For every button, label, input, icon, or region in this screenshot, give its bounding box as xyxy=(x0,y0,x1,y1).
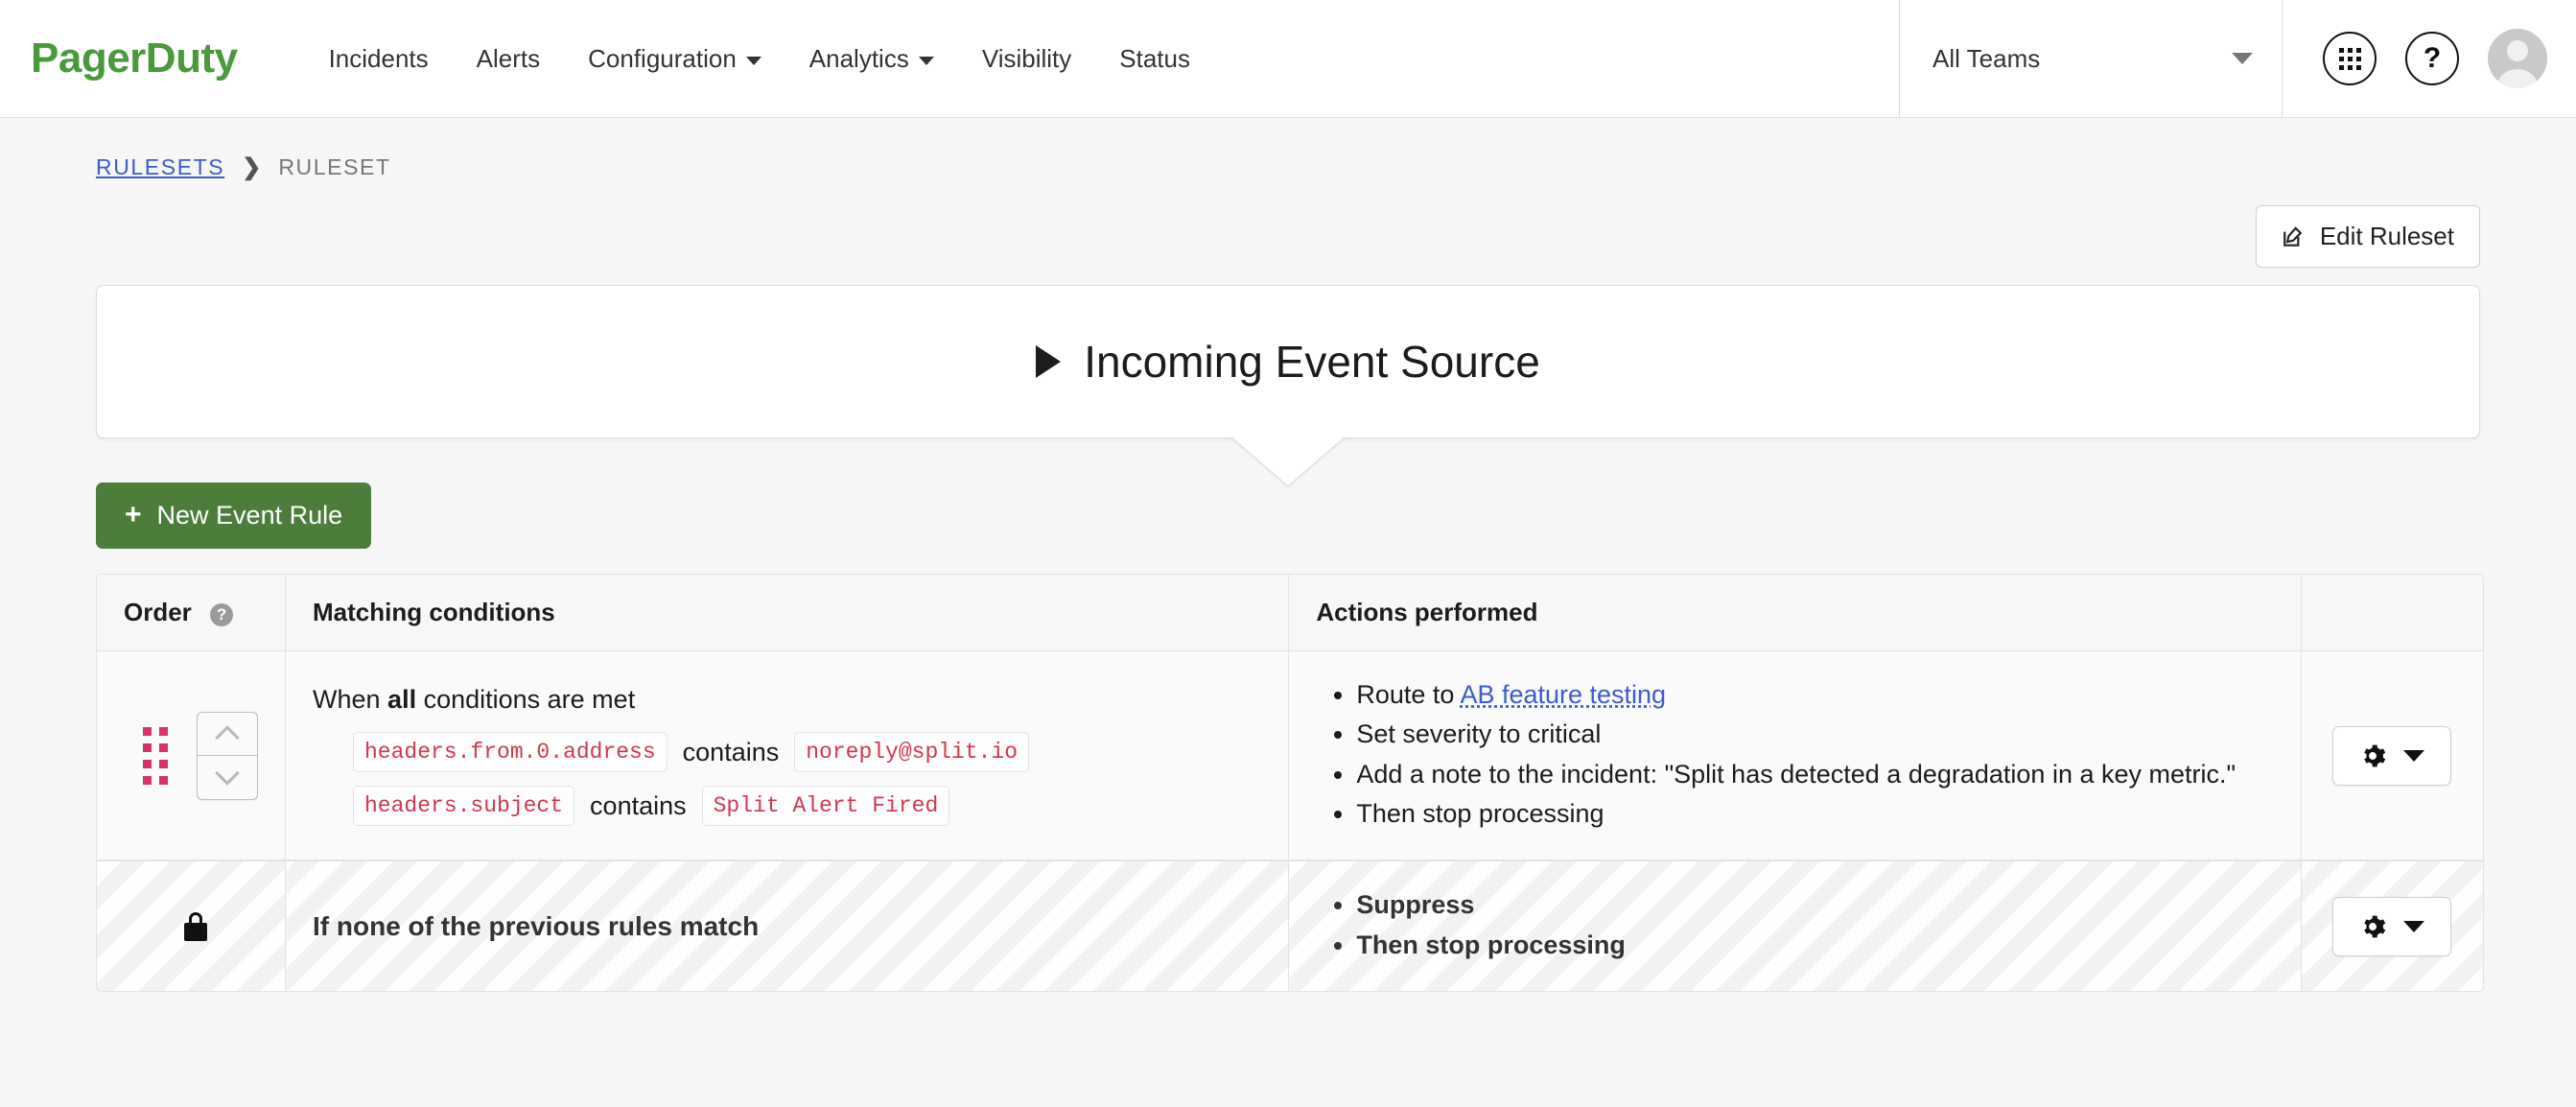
column-header-actions-performed: Actions performed xyxy=(1289,575,2301,651)
table-row-catchall: If none of the previous rules match Supp… xyxy=(97,860,2483,991)
callout-arrow xyxy=(1232,437,1344,485)
team-selector-value: All Teams xyxy=(1932,44,2040,74)
row-menu-cell xyxy=(2301,651,2483,861)
nav-item-analytics[interactable]: Analytics xyxy=(785,44,958,74)
catchall-actions-list: Suppress Then stop processing xyxy=(1316,886,2273,963)
help-icon[interactable]: ? xyxy=(2405,32,2459,85)
condition-item: headers.subject contains Split Alert Fir… xyxy=(353,786,1261,826)
nav-item-label: Status xyxy=(1119,44,1190,74)
nav-item-alerts[interactable]: Alerts xyxy=(453,44,564,74)
lock-icon xyxy=(183,912,208,941)
gear-icon xyxy=(2359,742,2386,769)
catchall-menu-cell xyxy=(2301,860,2483,991)
incoming-event-source-section: Incoming Event Source xyxy=(96,285,2480,438)
caret-down-icon xyxy=(2403,921,2424,932)
nav-item-label: Analytics xyxy=(809,44,909,74)
page-actions: Edit Ruleset xyxy=(96,205,2480,268)
actions-performed-cell: Route to AB feature testing Set severity… xyxy=(1289,651,2301,861)
grid-apps-glyph xyxy=(2339,48,2361,70)
action-link-service[interactable]: AB feature testing xyxy=(1460,680,1666,709)
catchall-label-cell: If none of the previous rules match xyxy=(286,860,1289,991)
move-up-button[interactable] xyxy=(198,713,257,756)
catchall-actions-cell: Suppress Then stop processing xyxy=(1289,860,2301,991)
pencil-square-icon xyxy=(2282,224,2307,249)
question-mark-glyph: ? xyxy=(2424,44,2441,73)
actions-list: Route to AB feature testing Set severity… xyxy=(1316,676,2273,832)
chevron-down-icon xyxy=(746,57,761,65)
order-cell xyxy=(97,651,286,861)
when-suffix: conditions are met xyxy=(416,685,635,714)
gear-icon xyxy=(2359,913,2386,940)
new-event-rule-button[interactable]: + New Event Rule xyxy=(96,483,371,549)
pagerduty-logo[interactable]: PagerDuty xyxy=(31,37,238,80)
condition-operator: contains xyxy=(683,738,780,767)
action-item: Add a note to the incident: "Split has d… xyxy=(1356,756,2273,792)
condition-item: headers.from.0.address contains noreply@… xyxy=(353,732,1261,772)
column-header-menu xyxy=(2301,575,2483,651)
conditions-list: headers.from.0.address contains noreply@… xyxy=(313,732,1261,826)
breadcrumb: RULESETS ❯ RULESET xyxy=(96,118,2480,180)
user-avatar-icon[interactable] xyxy=(2488,29,2547,88)
triangle-right-icon[interactable] xyxy=(1036,345,1061,378)
incoming-event-source-panel[interactable]: Incoming Event Source xyxy=(96,285,2480,438)
primary-nav-items: Incidents Alerts Configuration Analytics… xyxy=(305,44,1214,74)
top-navigation-bar: PagerDuty Incidents Alerts Configuration… xyxy=(0,0,2576,118)
nav-item-label: Incidents xyxy=(329,44,429,74)
page-content: RULESETS ❯ RULESET Edit Ruleset Incoming… xyxy=(0,118,2576,992)
catchall-settings-menu-button[interactable] xyxy=(2332,897,2451,956)
caret-down-icon xyxy=(2403,750,2424,762)
condition-value-chip: Split Alert Fired xyxy=(702,786,950,826)
new-event-rule-label: New Event Rule xyxy=(157,501,343,530)
chevron-up-icon xyxy=(215,725,239,749)
conditions-when-text: When all conditions are met xyxy=(313,685,1261,715)
column-header-matching-conditions: Matching conditions xyxy=(286,575,1289,651)
table-row: When all conditions are met headers.from… xyxy=(97,651,2483,861)
chevron-right-icon: ❯ xyxy=(242,156,261,179)
action-item: Then stop processing xyxy=(1356,927,2273,963)
breadcrumb-current-ruleset: RULESET xyxy=(278,154,390,180)
chevron-down-icon xyxy=(215,761,239,785)
nav-left-group: PagerDuty Incidents Alerts Configuration… xyxy=(0,0,1899,117)
column-header-order-label: Order xyxy=(124,598,192,626)
team-selector-dropdown[interactable]: All Teams xyxy=(1899,0,2283,117)
condition-operator: contains xyxy=(590,791,687,821)
edit-ruleset-label: Edit Ruleset xyxy=(2320,222,2454,251)
order-stepper xyxy=(197,712,258,800)
nav-item-incidents[interactable]: Incidents xyxy=(305,44,453,74)
action-text: Route to xyxy=(1356,680,1460,709)
when-emphasis: all xyxy=(387,685,416,714)
event-rules-table: Order ? Matching conditions Actions perf… xyxy=(96,574,2484,992)
catchall-label: If none of the previous rules match xyxy=(313,911,759,941)
plus-icon: + xyxy=(125,501,142,530)
nav-item-configuration[interactable]: Configuration xyxy=(564,44,785,74)
condition-field-chip: headers.subject xyxy=(353,786,574,826)
nav-item-visibility[interactable]: Visibility xyxy=(958,44,1095,74)
column-header-order: Order ? xyxy=(97,575,286,651)
breadcrumb-link-rulesets[interactable]: RULESETS xyxy=(96,154,224,180)
nav-item-label: Visibility xyxy=(982,44,1071,74)
nav-item-status[interactable]: Status xyxy=(1095,44,1214,74)
incoming-event-source-title: Incoming Event Source xyxy=(1084,336,1540,388)
nav-item-label: Alerts xyxy=(477,44,540,74)
move-down-button[interactable] xyxy=(198,756,257,799)
action-item: Route to AB feature testing xyxy=(1356,676,2273,713)
action-item: Set severity to critical xyxy=(1356,716,2273,752)
nav-right-group: ? xyxy=(2283,0,2576,117)
row-settings-menu-button[interactable] xyxy=(2332,726,2451,786)
chevron-down-icon xyxy=(2232,53,2253,64)
when-prefix: When xyxy=(313,685,387,714)
catchall-lock-cell xyxy=(97,860,286,991)
help-icon[interactable]: ? xyxy=(210,603,233,626)
matching-conditions-cell: When all conditions are met headers.from… xyxy=(286,651,1289,861)
condition-field-chip: headers.from.0.address xyxy=(353,732,667,772)
grid-apps-icon[interactable] xyxy=(2323,32,2377,85)
condition-value-chip: noreply@split.io xyxy=(794,732,1029,772)
action-item: Then stop processing xyxy=(1356,795,2273,832)
incoming-event-source-title-group: Incoming Event Source xyxy=(1036,336,1540,388)
edit-ruleset-button[interactable]: Edit Ruleset xyxy=(2256,205,2480,268)
nav-item-label: Configuration xyxy=(588,44,737,74)
table-header-row: Order ? Matching conditions Actions perf… xyxy=(97,575,2483,651)
chevron-down-icon xyxy=(919,57,934,65)
action-item: Suppress xyxy=(1356,886,2273,923)
drag-handle-icon[interactable] xyxy=(143,727,168,785)
